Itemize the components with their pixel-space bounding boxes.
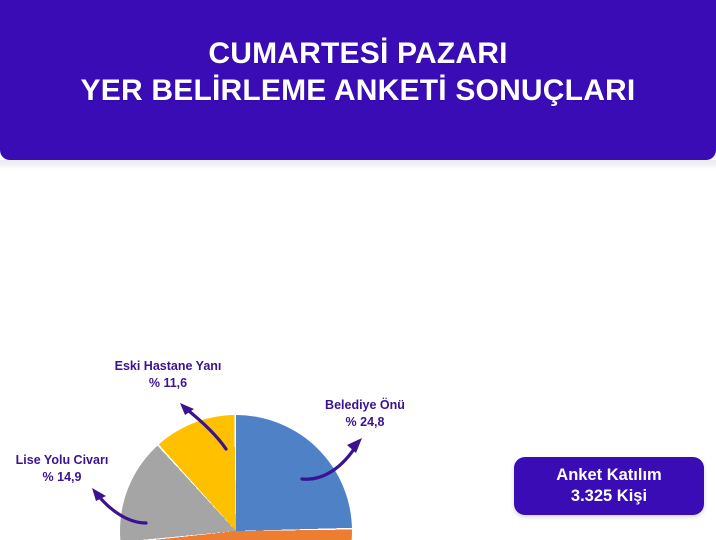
header-banner: CUMARTESİ PAZARI YER BELİRLEME ANKETİ SO… xyxy=(0,0,716,160)
callout-belediye-onu-label: Belediye Önü xyxy=(300,397,430,414)
callout-eski-hastane-value: % 11,6 xyxy=(88,375,248,392)
participation-value: 3.325 Kişi xyxy=(571,486,647,507)
header-divider xyxy=(0,160,716,169)
content-card: Eski Hastane Yanı % 11,6 Lise Yolu Civar… xyxy=(0,169,716,540)
callout-belediye-onu: Belediye Önü % 24,8 xyxy=(300,397,430,431)
callout-eski-hastane-label: Eski Hastane Yanı xyxy=(88,358,248,375)
participation-label: Anket Katılım xyxy=(556,465,661,486)
callout-lise-yolu: Lise Yolu Civarı % 14,9 xyxy=(2,452,122,486)
pie-slices xyxy=(120,415,352,540)
callout-lise-yolu-value: % 14,9 xyxy=(2,469,122,486)
pie-chart xyxy=(120,415,352,540)
callout-lise-yolu-label: Lise Yolu Civarı xyxy=(2,452,122,469)
poster-root: CUMARTESİ PAZARI YER BELİRLEME ANKETİ SO… xyxy=(0,0,716,540)
callout-eski-hastane: Eski Hastane Yanı % 11,6 xyxy=(88,358,248,392)
participation-box: Anket Katılım 3.325 Kişi xyxy=(514,457,704,515)
callout-belediye-onu-value: % 24,8 xyxy=(300,414,430,431)
page-title-line-2: YER BELİRLEME ANKETİ SONUÇLARI xyxy=(81,73,636,110)
page-title-line-1: CUMARTESİ PAZARI xyxy=(208,36,507,73)
